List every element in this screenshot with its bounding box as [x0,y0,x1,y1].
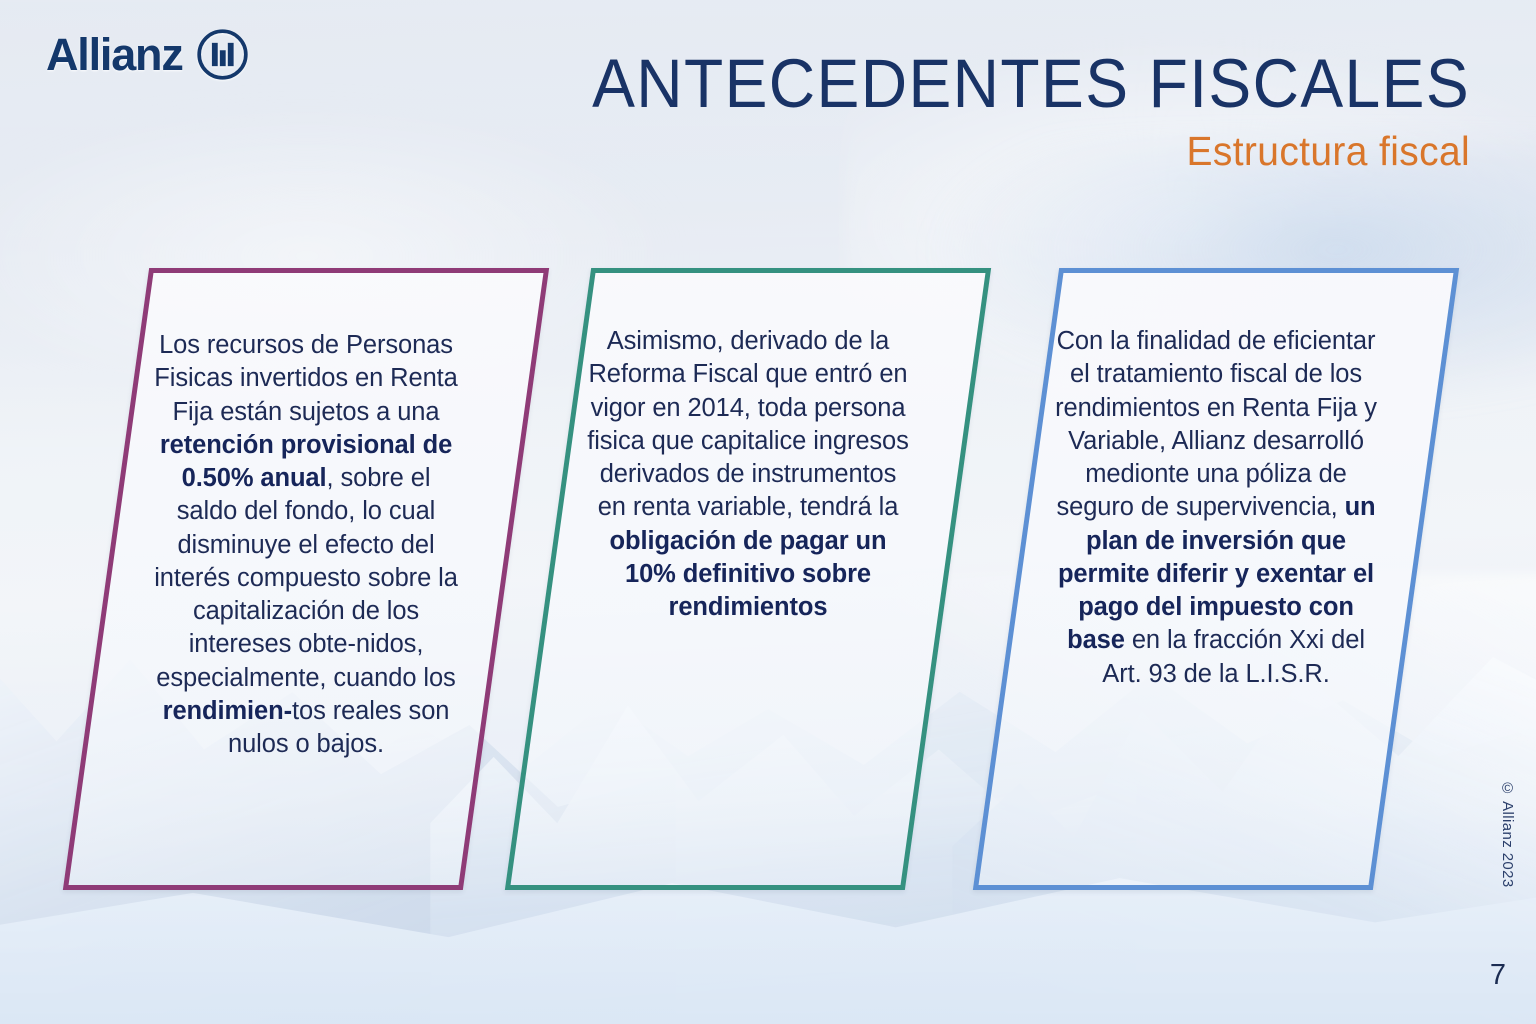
card-inner: Asimismo, derivado de la Reforma Fiscal … [553,273,943,885]
card-body-text: Con la finalidad de eficientar el tratam… [1048,325,1384,691]
info-card-poliza-supervivencia[interactable]: Con la finalidad de eficientar el tratam… [973,268,1459,890]
allianz-logo: Allianz [46,28,249,81]
card-row: Los recursos de Personas Fisicas inverti… [0,268,1536,908]
info-card-reforma-fiscal-2014[interactable]: Asimismo, derivado de la Reforma Fiscal … [505,268,991,890]
page-title: ANTECEDENTES FISCALES [592,48,1470,120]
title-block: ANTECEDENTES FISCALES Estructura fiscal [526,48,1470,175]
copyright-notice: © Allianz 2023 [1499,780,1516,888]
card-body-text: Asimismo, derivado de la Reforma Fiscal … [583,325,913,624]
card-body-text: Los recursos de Personas Fisicas inverti… [150,329,462,761]
info-card-retencion-provisional[interactable]: Los recursos de Personas Fisicas inverti… [63,268,549,890]
slide-canvas: Allianz ANTECEDENTES FISCALES Estructura… [0,0,1536,1024]
page-number: 7 [1490,959,1506,992]
page-subtitle: Estructura fiscal [573,128,1470,175]
allianz-bars-circle-icon [196,28,249,81]
allianz-wordmark: Allianz [46,29,183,81]
card-inner: Con la finalidad de eficientar el tratam… [1021,273,1411,885]
card-inner: Los recursos de Personas Fisicas inverti… [111,273,501,885]
